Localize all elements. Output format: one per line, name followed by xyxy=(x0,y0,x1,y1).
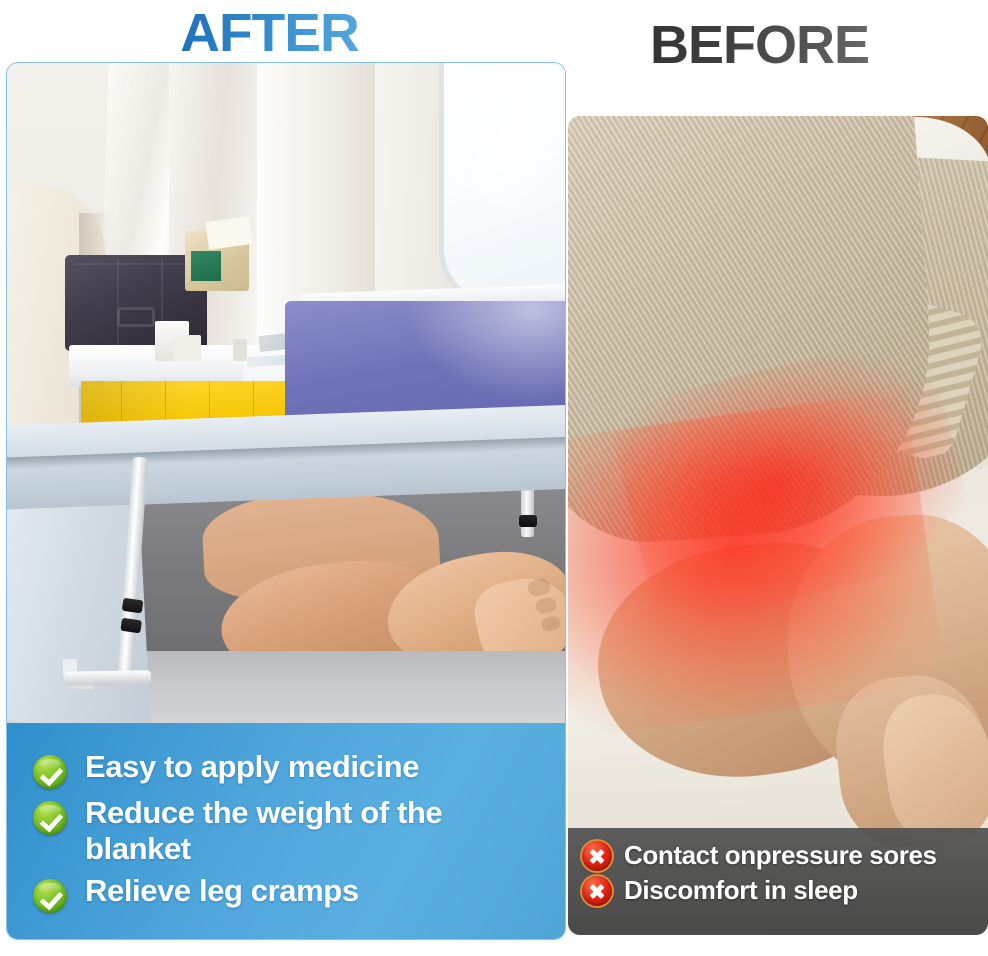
problem-label: Contact onpressure sores xyxy=(624,840,937,871)
benefit-label: Relieve leg cramps xyxy=(85,873,359,909)
list-item: Contact onpressure sores xyxy=(582,840,988,871)
frame-clamp xyxy=(120,618,142,634)
after-product-photo xyxy=(7,63,565,725)
benefit-label: Reduce the weight of the blanket xyxy=(85,795,515,867)
list-item: Easy to apply medicine xyxy=(33,749,565,789)
after-heading: AFTER xyxy=(180,2,358,64)
window-glow xyxy=(459,71,559,231)
benefit-label: Easy to apply medicine xyxy=(85,749,419,785)
check-circle-icon xyxy=(33,879,67,913)
after-panel: Easy to apply medicine Reduce the weight… xyxy=(6,62,566,940)
problems-band: Contact onpressure sores Discomfort in s… xyxy=(568,828,988,935)
benefits-band: Easy to apply medicine Reduce the weight… xyxy=(7,723,565,939)
tabletop-item xyxy=(233,339,247,361)
cross-circle-icon xyxy=(582,841,612,871)
problem-label: Discomfort in sleep xyxy=(624,875,858,906)
tissue-box xyxy=(185,231,249,291)
mattress-highlight xyxy=(407,301,565,401)
benefits-list: Easy to apply medicine Reduce the weight… xyxy=(33,749,565,913)
before-panel: Contact onpressure sores Discomfort in s… xyxy=(568,116,988,935)
tabletop-item xyxy=(173,335,201,361)
list-item: Relieve leg cramps xyxy=(33,873,565,913)
before-heading: BEFORE xyxy=(650,14,869,76)
list-item: Discomfort in sleep xyxy=(582,875,988,906)
frame-clamp xyxy=(122,598,144,614)
list-item: Reduce the weight of the blanket xyxy=(33,795,565,867)
frame-clamp xyxy=(519,515,537,527)
frame-foot-bar xyxy=(65,670,151,685)
cross-circle-icon xyxy=(582,876,612,906)
check-circle-icon xyxy=(33,801,67,835)
comparison-infographic: AFTER BEFORE xyxy=(0,0,988,956)
check-circle-icon xyxy=(33,755,67,789)
